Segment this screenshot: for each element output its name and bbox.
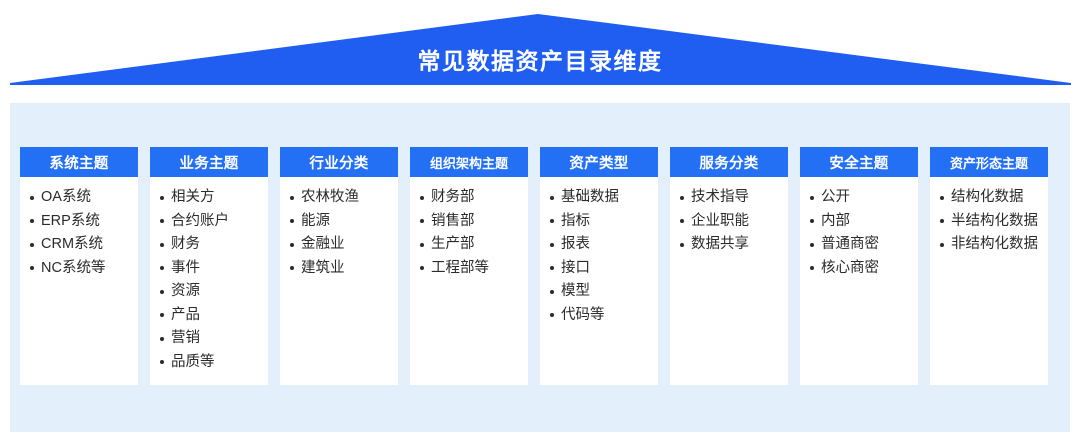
dimension-card-asset-type[interactable]: 资产类型 基础数据 指标 报表 接口 模型 代码等 xyxy=(540,147,658,385)
card-body-org-structure-theme: 财务部 销售部 生产部 工程部等 xyxy=(410,177,528,385)
list-item: 事件 xyxy=(158,257,262,280)
card-header-org-structure-theme: 组织架构主题 xyxy=(410,147,528,177)
list-item: 财务部 xyxy=(418,186,522,209)
dimension-card-industry-category[interactable]: 行业分类 农林牧渔 能源 金融业 建筑业 xyxy=(280,147,398,385)
item-list-business-theme: 相关方 合约账户 财务 事件 资源 产品 营销 品质等 xyxy=(158,186,262,373)
item-list-security-theme: 公开 内部 普通商密 核心商密 xyxy=(808,186,912,279)
list-item: 半结构化数据 xyxy=(938,210,1042,233)
list-item: 指标 xyxy=(548,210,652,233)
list-item: 数据共享 xyxy=(678,233,782,256)
list-item: 品质等 xyxy=(158,351,262,374)
card-body-service-category: 技术指导 企业职能 数据共享 xyxy=(670,177,788,385)
card-body-asset-type: 基础数据 指标 报表 接口 模型 代码等 xyxy=(540,177,658,385)
dimension-card-row: 系统主题 OA系统 ERP系统 CRM系统 NC系统等 业务主题 相关方 合约账… xyxy=(20,147,1060,385)
card-header-system-theme: 系统主题 xyxy=(20,147,138,177)
list-item: 非结构化数据 xyxy=(938,233,1042,256)
list-item: 金融业 xyxy=(288,233,392,256)
item-list-service-category: 技术指导 企业职能 数据共享 xyxy=(678,186,782,256)
roof-banner: 常见数据资产目录维度 xyxy=(0,0,1080,92)
item-list-org-structure-theme: 财务部 销售部 生产部 工程部等 xyxy=(418,186,522,279)
card-header-asset-form-theme: 资产形态主题 xyxy=(930,147,1048,177)
list-item: 公开 xyxy=(808,186,912,209)
list-item: 代码等 xyxy=(548,304,652,327)
card-body-industry-category: 农林牧渔 能源 金融业 建筑业 xyxy=(280,177,398,385)
list-item: 工程部等 xyxy=(418,257,522,280)
list-item: ERP系统 xyxy=(28,210,132,233)
dimension-card-system-theme[interactable]: 系统主题 OA系统 ERP系统 CRM系统 NC系统等 xyxy=(20,147,138,385)
list-item: 接口 xyxy=(548,257,652,280)
dimension-card-asset-form-theme[interactable]: 资产形态主题 结构化数据 半结构化数据 非结构化数据 xyxy=(930,147,1048,385)
card-body-security-theme: 公开 内部 普通商密 核心商密 xyxy=(800,177,918,385)
list-item: 合约账户 xyxy=(158,210,262,233)
list-item: 建筑业 xyxy=(288,257,392,280)
card-header-service-category: 服务分类 xyxy=(670,147,788,177)
list-item: NC系统等 xyxy=(28,257,132,280)
list-item: 农林牧渔 xyxy=(288,186,392,209)
item-list-asset-type: 基础数据 指标 报表 接口 模型 代码等 xyxy=(548,186,652,326)
dimension-card-service-category[interactable]: 服务分类 技术指导 企业职能 数据共享 xyxy=(670,147,788,385)
list-item: 相关方 xyxy=(158,186,262,209)
list-item: 报表 xyxy=(548,233,652,256)
card-header-business-theme: 业务主题 xyxy=(150,147,268,177)
page-title: 常见数据资产目录维度 xyxy=(0,46,1080,76)
list-item: 核心商密 xyxy=(808,257,912,280)
dimension-card-security-theme[interactable]: 安全主题 公开 内部 普通商密 核心商密 xyxy=(800,147,918,385)
list-item: 产品 xyxy=(158,304,262,327)
card-body-asset-form-theme: 结构化数据 半结构化数据 非结构化数据 xyxy=(930,177,1048,385)
item-list-industry-category: 农林牧渔 能源 金融业 建筑业 xyxy=(288,186,392,279)
item-list-asset-form-theme: 结构化数据 半结构化数据 非结构化数据 xyxy=(938,186,1042,256)
list-item: 基础数据 xyxy=(548,186,652,209)
card-header-industry-category: 行业分类 xyxy=(280,147,398,177)
list-item: 生产部 xyxy=(418,233,522,256)
infographic-root: 常见数据资产目录维度 系统主题 OA系统 ERP系统 CRM系统 NC系统等 业… xyxy=(0,0,1080,448)
list-item: CRM系统 xyxy=(28,233,132,256)
card-body-system-theme: OA系统 ERP系统 CRM系统 NC系统等 xyxy=(20,177,138,385)
list-item: 企业职能 xyxy=(678,210,782,233)
list-item: 普通商密 xyxy=(808,233,912,256)
list-item: 财务 xyxy=(158,233,262,256)
list-item: 模型 xyxy=(548,280,652,303)
dimension-card-business-theme[interactable]: 业务主题 相关方 合约账户 财务 事件 资源 产品 营销 品质等 xyxy=(150,147,268,385)
card-header-asset-type: 资产类型 xyxy=(540,147,658,177)
list-item: 结构化数据 xyxy=(938,186,1042,209)
item-list-system-theme: OA系统 ERP系统 CRM系统 NC系统等 xyxy=(28,186,132,279)
dimension-card-org-structure-theme[interactable]: 组织架构主题 财务部 销售部 生产部 工程部等 xyxy=(410,147,528,385)
list-item: 技术指导 xyxy=(678,186,782,209)
list-item: 内部 xyxy=(808,210,912,233)
list-item: OA系统 xyxy=(28,186,132,209)
card-body-business-theme: 相关方 合约账户 财务 事件 资源 产品 营销 品质等 xyxy=(150,177,268,385)
list-item: 资源 xyxy=(158,280,262,303)
card-header-security-theme: 安全主题 xyxy=(800,147,918,177)
list-item: 能源 xyxy=(288,210,392,233)
list-item: 营销 xyxy=(158,327,262,350)
list-item: 销售部 xyxy=(418,210,522,233)
